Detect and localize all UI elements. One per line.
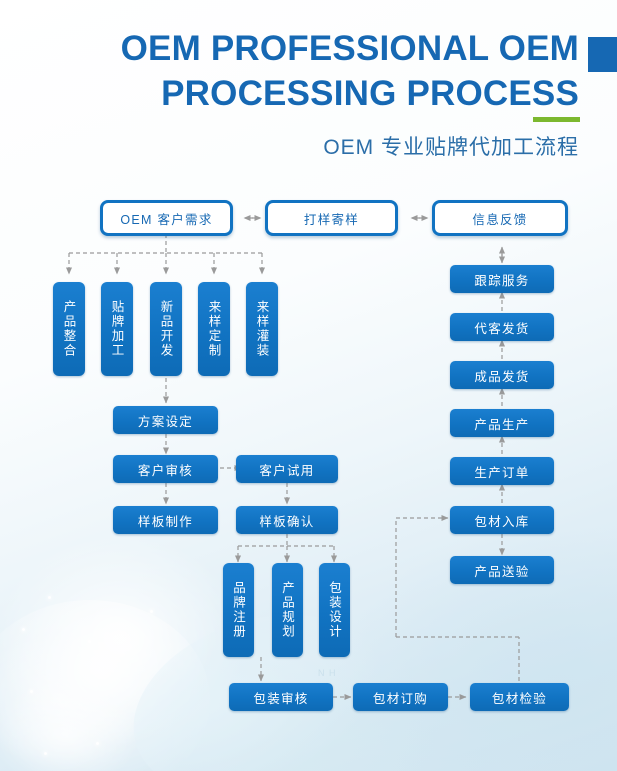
node-info-feedback[interactable]: 信息反馈 [432, 200, 568, 236]
page-root: N H OEM PROFESSIONAL OEM PROCESSING PROC… [0, 0, 617, 771]
node-label: 打样寄样 [304, 209, 359, 228]
node-oem-demand[interactable]: OEM 客户需求 [100, 200, 233, 236]
node-customer-trial[interactable]: 客户试用 [236, 455, 338, 483]
node-sample-making[interactable]: 样板制作 [113, 506, 218, 534]
node-plan-setting[interactable]: 方案设定 [113, 406, 218, 434]
node-label: 客户试用 [259, 460, 314, 479]
node-label: 生产订单 [474, 462, 529, 481]
node-customer-review[interactable]: 客户审核 [113, 455, 218, 483]
node-sample-filling[interactable]: 来样灌装 [246, 282, 278, 376]
node-label: 信息反馈 [472, 209, 527, 228]
node-label: 品牌注册 [229, 581, 248, 639]
node-label: 包材入库 [474, 511, 529, 530]
node-label: 跟踪服务 [474, 270, 529, 289]
node-sample-custom[interactable]: 来样定制 [198, 282, 230, 376]
node-label: 客户审核 [138, 460, 193, 479]
node-brand-registration[interactable]: 品牌注册 [223, 563, 254, 657]
node-label: 产品整合 [60, 300, 79, 358]
node-oem-processing[interactable]: 贴牌加工 [101, 282, 133, 376]
node-label: 代客发货 [474, 318, 529, 337]
node-label: 包材订购 [373, 688, 428, 707]
node-product-inspection[interactable]: 产品送验 [450, 556, 554, 584]
node-agent-shipping[interactable]: 代客发货 [450, 313, 554, 341]
node-product-production[interactable]: 产品生产 [450, 409, 554, 437]
node-product-planning[interactable]: 产品规划 [272, 563, 303, 657]
node-sample-confirm[interactable]: 样板确认 [236, 506, 338, 534]
node-label: 包装审核 [253, 688, 308, 707]
node-label: 产品生产 [474, 414, 529, 433]
node-label: 来样灌装 [253, 300, 272, 358]
node-label: 包材检验 [492, 688, 547, 707]
node-label: 新品开发 [157, 300, 176, 358]
node-label: 样板确认 [259, 511, 314, 530]
node-label: 来样定制 [205, 300, 224, 358]
node-label: 产品送验 [474, 561, 529, 580]
node-sample-proof[interactable]: 打样寄样 [265, 200, 398, 236]
flow-diagram: OEM 客户需求 打样寄样 信息反馈 产品整合 贴牌加工 新品开发 来样定制 来… [0, 0, 617, 771]
node-production-order[interactable]: 生产订单 [450, 457, 554, 485]
node-package-audit[interactable]: 包装审核 [229, 683, 333, 711]
node-new-product-dev[interactable]: 新品开发 [150, 282, 182, 376]
node-product-integration[interactable]: 产品整合 [53, 282, 85, 376]
node-label: 样板制作 [138, 511, 193, 530]
node-label: OEM 客户需求 [120, 209, 212, 228]
node-label: 成品发货 [474, 366, 529, 385]
node-material-inspect[interactable]: 包材检验 [470, 683, 569, 711]
node-package-design[interactable]: 包装设计 [319, 563, 350, 657]
node-material-order[interactable]: 包材订购 [353, 683, 448, 711]
node-finished-shipping[interactable]: 成品发货 [450, 361, 554, 389]
node-label: 贴牌加工 [108, 300, 127, 358]
node-label: 产品规划 [278, 581, 297, 639]
node-material-warehouse[interactable]: 包材入库 [450, 506, 554, 534]
node-tracking-service[interactable]: 跟踪服务 [450, 265, 554, 293]
node-label: 方案设定 [138, 411, 193, 430]
node-label: 包装设计 [325, 581, 344, 639]
